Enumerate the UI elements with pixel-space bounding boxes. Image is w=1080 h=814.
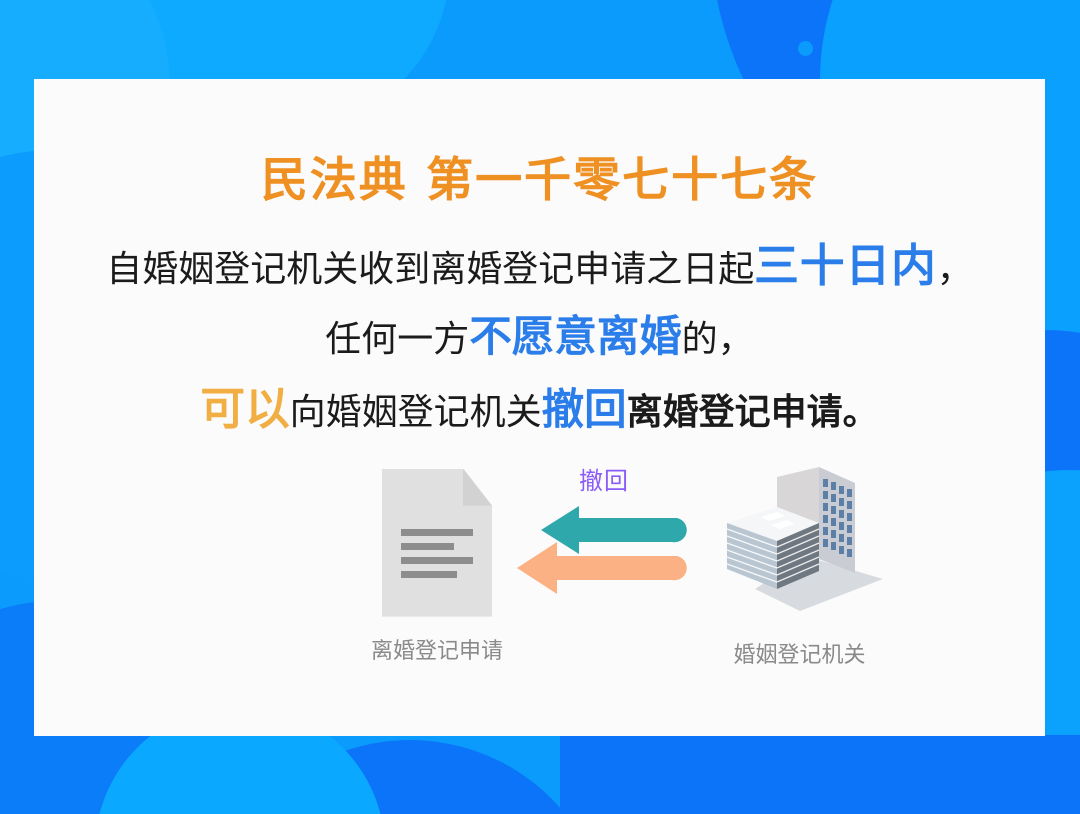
content-card: 民法典 第一千零七十七条 自婚姻登记机关收到离婚登记申请之日起三十日内， 任何一… bbox=[34, 79, 1045, 736]
arrow-top-teal bbox=[541, 506, 687, 554]
line3-text-part2: 离婚登记申请。 bbox=[627, 392, 879, 433]
building-caption: 婚姻登记机关 bbox=[682, 637, 917, 669]
double-arrow-icon bbox=[517, 506, 692, 606]
line1-highlight: 三十日内 bbox=[754, 240, 937, 292]
line1-text-part1: 自婚姻登记机关收到离婚登记申请之日起 bbox=[106, 249, 754, 290]
document-text-line bbox=[401, 557, 473, 564]
document-text-line bbox=[401, 543, 454, 550]
decorative-dot bbox=[798, 41, 813, 56]
arrow-group: 撤回 bbox=[504, 461, 704, 606]
page-title: 民法典 第一千零七十七条 bbox=[34, 141, 1045, 210]
document-icon bbox=[382, 469, 492, 617]
article-line-3: 可以向婚姻登记机关撤回离婚登记申请。 bbox=[34, 387, 1045, 432]
article-line-2: 任何一方不愿意离婚的， bbox=[34, 317, 1045, 359]
article-body: 自婚姻登记机关收到离婚登记申请之日起三十日内， 任何一方不愿意离婚的， 可以向婚… bbox=[34, 244, 1045, 433]
document-text-line bbox=[401, 529, 473, 536]
line3-text-part1: 向婚姻登记机关 bbox=[290, 392, 542, 433]
document-text-lines bbox=[401, 529, 473, 585]
line3-highlight-1: 可以 bbox=[200, 383, 289, 435]
background-blob bbox=[560, 735, 1080, 814]
line2-highlight: 不愿意离婚 bbox=[469, 313, 681, 362]
line1-text-part2: ， bbox=[937, 249, 973, 290]
poster-root: 民法典 第一千零七十七条 自婚姻登记机关收到离婚登记申请之日起三十日内， 任何一… bbox=[0, 0, 1080, 814]
line2-text-part2: 的， bbox=[682, 319, 754, 360]
building-icon bbox=[705, 461, 895, 621]
arrow-bottom-orange bbox=[517, 542, 687, 594]
illustration: 离婚登记申请 撤回 bbox=[34, 461, 1045, 691]
line3-highlight-2: 撤回 bbox=[542, 386, 627, 435]
line2-text-part1: 任何一方 bbox=[325, 319, 469, 360]
building-group: 婚姻登记机关 bbox=[682, 461, 917, 669]
document-group: 离婚登记申请 bbox=[352, 469, 522, 665]
document-caption: 离婚登记申请 bbox=[352, 633, 522, 665]
recall-arrows-icon bbox=[517, 506, 692, 606]
document-text-line bbox=[401, 571, 457, 578]
article-line-1: 自婚姻登记机关收到离婚登记申请之日起三十日内， bbox=[34, 244, 1045, 289]
recall-label: 撤回 bbox=[504, 461, 704, 496]
